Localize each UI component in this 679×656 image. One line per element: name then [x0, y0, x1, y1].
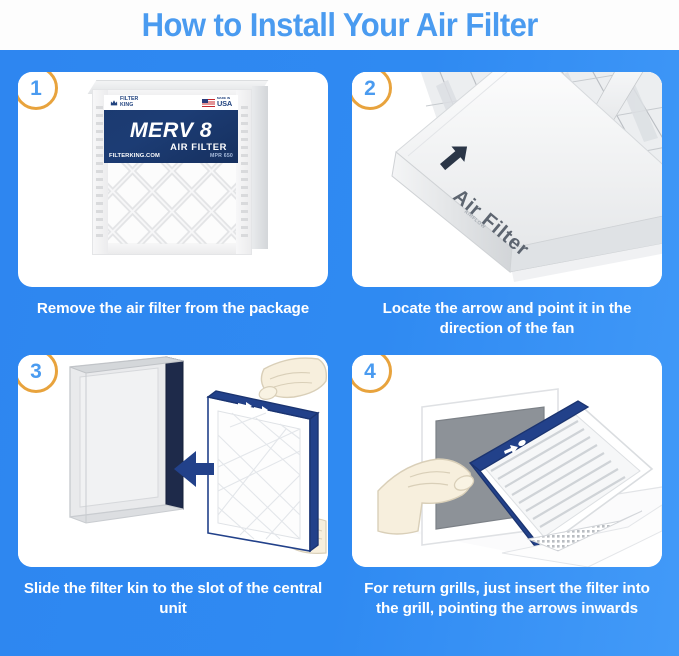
slide-filter-diagram: [18, 355, 328, 567]
step-caption-4: For return grills, just insert the filte…: [352, 579, 662, 619]
step-panel-1: FILTER KING MADE IN: [18, 72, 328, 319]
filter-frame-bottom: [93, 244, 251, 254]
page-title: How to Install Your Air Filter: [141, 7, 537, 43]
product-label: FILTER KING MADE IN: [104, 95, 238, 163]
step-2-illustration: Air Filter AIRFLOW: [352, 72, 662, 287]
central-unit-slot: [70, 357, 183, 523]
step-4-illustration: [352, 355, 662, 567]
label-brand-row: FILTER KING MADE IN: [104, 95, 238, 110]
made-in-usa-badge: MADE IN USA: [202, 97, 232, 108]
infographic-root: How to Install Your Air Filter: [0, 0, 679, 656]
crown-icon: [110, 99, 118, 107]
step-card-4: 4: [352, 355, 662, 567]
step-number-2: 2: [364, 78, 376, 99]
filter-corner-photo: Air Filter AIRFLOW: [352, 72, 662, 287]
header-bar: How to Install Your Air Filter: [0, 0, 679, 50]
step-card-3: 3: [18, 355, 328, 567]
step-1-illustration: FILTER KING MADE IN: [18, 72, 328, 287]
steps-grid: FILTER KING MADE IN: [0, 50, 679, 656]
step-panel-3: 3 Slide the filter kin to the slot of th…: [18, 355, 328, 619]
step-panel-4: 4 For return grills, just insert the fil…: [352, 355, 662, 619]
air-filter-package: FILTER KING MADE IN: [86, 80, 268, 260]
step-caption-2: Locate the arrow and point it in the dir…: [352, 299, 662, 339]
mpr-value: MPR 650: [210, 153, 233, 159]
step-card-2: Air Filter AIRFLOW 2: [352, 72, 662, 287]
step-card-1: FILTER KING MADE IN: [18, 72, 328, 287]
step-number-1: 1: [30, 78, 42, 99]
usa-flag-icon: [202, 99, 215, 107]
step-number-3: 3: [30, 361, 42, 382]
brand-line-2: KING: [120, 103, 138, 108]
brand-name: FILTER KING: [120, 97, 138, 108]
step-number-4: 4: [364, 361, 376, 382]
step-panel-2: Air Filter AIRFLOW 2 Locate the arrow an…: [352, 72, 662, 339]
website-url: FILTERKING.COM: [109, 153, 160, 159]
merv-rating: MERV 8: [108, 119, 234, 142]
product-type: AIR FILTER: [109, 141, 233, 152]
filter-pleat-ticks-right: [236, 90, 251, 255]
step-3-illustration: [18, 355, 328, 567]
step-caption-1: Remove the air filter from the package: [18, 299, 328, 319]
filter-side-face: [252, 86, 268, 249]
label-footer-row: FILTERKING.COM MPR 650: [109, 153, 233, 159]
made-in-usa-text: MADE IN USA: [217, 97, 232, 108]
usa-label: USA: [217, 100, 232, 107]
steps-board: FILTER KING MADE IN: [0, 50, 679, 656]
filter-king-logo: FILTER KING: [110, 97, 138, 108]
return-grill-diagram: [352, 355, 662, 567]
filter-front-face: FILTER KING MADE IN: [92, 89, 252, 255]
filter-frame-right: [236, 90, 251, 254]
step-caption-3: Slide the filter kin to the slot of the …: [18, 579, 328, 619]
